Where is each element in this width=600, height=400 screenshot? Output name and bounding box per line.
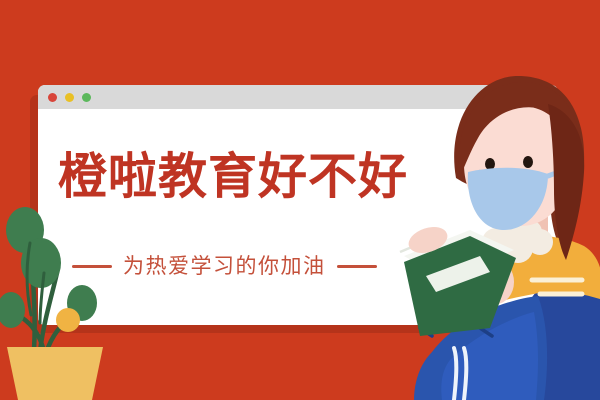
minimize-dot[interactable] [65,93,74,102]
woman-reading-illustration [398,60,600,400]
drawstring-left [454,348,456,400]
subtitle-text: 为热爱学习的你加油 [123,256,326,277]
close-dot[interactable] [48,93,57,102]
traffic-light-dots [48,93,91,102]
potted-plant-illustration [0,195,135,400]
maximize-dot[interactable] [82,93,91,102]
subtitle-right-rule [337,265,377,268]
plant-flower [56,308,80,332]
eye-left [485,158,495,170]
poster-canvas: 橙啦教育好不好 为热爱学习的你加油 [0,0,600,400]
drawstring-right [464,348,466,400]
eye-right [523,156,533,168]
plant-pot [7,347,103,400]
